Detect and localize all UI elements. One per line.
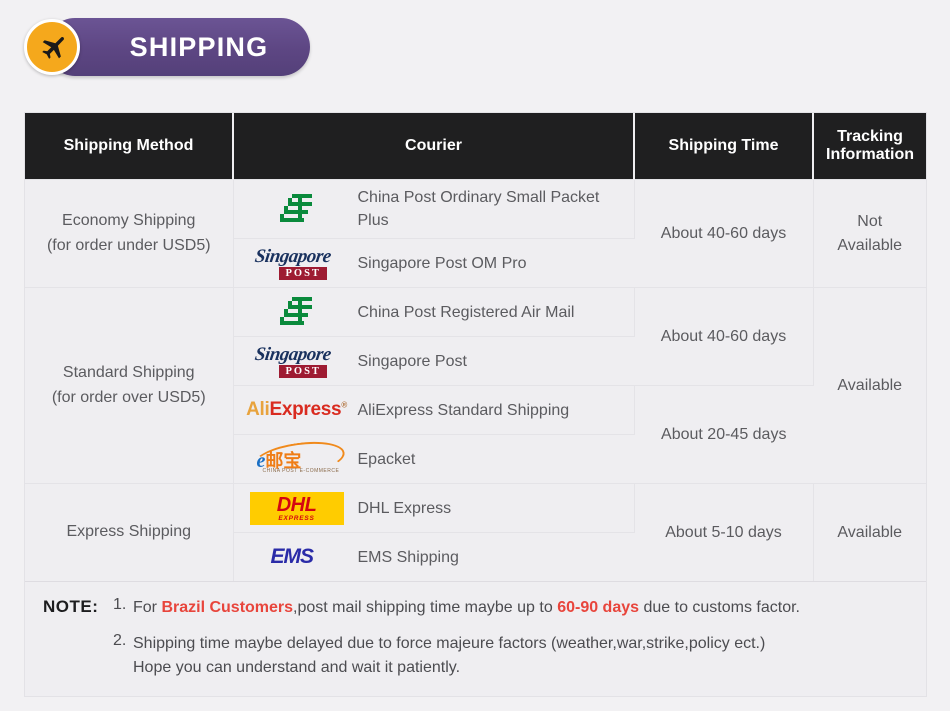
method-line2: (for order under USD5): [33, 234, 225, 259]
china-post-logo: [242, 192, 352, 226]
shipping-table-card: Shipping Method Courier Shipping Time Tr…: [24, 112, 927, 697]
method-cell-economy: Economy Shipping (for order under USD5): [25, 180, 233, 288]
courier-name: DHL Express: [352, 497, 452, 520]
courier-cell: Singapore POST Singapore Post: [233, 337, 634, 386]
note-item-1: NOTE: 1. For Brazil Customers,post mail …: [43, 596, 908, 620]
time-cell: About 20-45 days: [634, 386, 813, 484]
china-post-logo: [242, 295, 352, 329]
singapore-post-logo: Singapore POST: [242, 247, 352, 280]
dhl-subtext: EXPRESS: [252, 516, 342, 523]
note-label: NOTE:: [43, 596, 113, 617]
singapore-post-script: Singapore: [251, 247, 342, 266]
tracking-cell: Available: [813, 484, 926, 582]
singapore-post-box: POST: [279, 365, 327, 378]
aliexpress-express: Express: [269, 399, 341, 420]
header-courier: Courier: [233, 113, 634, 180]
courier-cell: AliExpress® AliExpress Standard Shipping: [233, 386, 634, 435]
courier-cell: e邮宝 CHINA POST E-COMMERCE Epacket: [233, 435, 634, 484]
courier-name: China Post Registered Air Mail: [352, 301, 575, 324]
courier-cell: China Post Ordinary Small Packet Plus: [233, 180, 634, 239]
dhl-wordmark: DHL: [252, 495, 342, 515]
courier-cell: China Post Registered Air Mail: [233, 288, 634, 337]
singapore-post-logo: Singapore POST: [242, 345, 352, 378]
header-tracking-line1: Tracking: [820, 128, 920, 146]
note-1-pre: For: [133, 599, 161, 616]
singapore-post-script: Singapore: [251, 345, 342, 364]
note-1-highlight-days: 60-90 days: [557, 599, 639, 616]
method-line2: (for order over USD5): [33, 386, 225, 411]
table-row: Express Shipping DHL EXPRESS DHL Express…: [25, 484, 926, 533]
table-row: Economy Shipping (for order under USD5): [25, 180, 926, 239]
tracking-cell: Available: [813, 288, 926, 484]
aliexpress-logo: AliExpress®: [242, 399, 352, 421]
aliexpress-ali: Ali: [246, 399, 269, 420]
courier-name: Epacket: [352, 448, 416, 471]
banner-pill: SHIPPING: [46, 18, 310, 76]
note-1-highlight-brazil: Brazil Customers: [161, 599, 293, 616]
courier-name: China Post Ordinary Small Packet Plus: [352, 186, 626, 232]
method-line1: Express Shipping: [33, 520, 225, 545]
courier-cell: EMS EMS Shipping: [233, 533, 634, 582]
note-2-text: Shipping time maybe delayed due to force…: [133, 632, 765, 680]
header-shipping-time: Shipping Time: [634, 113, 813, 180]
note-1-post: due to customs factor.: [639, 599, 800, 616]
epacket-logo: e邮宝 CHINA POST E-COMMERCE: [242, 441, 352, 477]
courier-cell: DHL EXPRESS DHL Express: [233, 484, 634, 533]
courier-name: EMS Shipping: [352, 546, 459, 569]
tracking-cell: Not Available: [813, 180, 926, 288]
note-2-line1: Shipping time maybe delayed due to force…: [133, 632, 765, 656]
courier-name: Singapore Post: [352, 350, 467, 373]
time-cell: About 5-10 days: [634, 484, 813, 582]
method-cell-standard: Standard Shipping (for order over USD5): [25, 288, 233, 484]
note-2-number: 2.: [113, 632, 133, 650]
dhl-logo: DHL EXPRESS: [242, 492, 352, 525]
time-cell: About 40-60 days: [634, 288, 813, 386]
table-header-row: Shipping Method Courier Shipping Time Tr…: [25, 113, 926, 180]
header-shipping-method: Shipping Method: [25, 113, 233, 180]
tracking-line1: Not: [822, 210, 919, 234]
epacket-subtext: CHINA POST E-COMMERCE: [263, 468, 340, 474]
note-1-text: For Brazil Customers,post mail shipping …: [133, 596, 800, 620]
courier-name: Singapore Post OM Pro: [352, 252, 527, 275]
airplane-badge: [24, 19, 80, 75]
ems-logo: EMS: [242, 542, 352, 572]
method-line1: Standard Shipping: [33, 361, 225, 386]
tracking-line2: Available: [822, 234, 919, 258]
table-row: Standard Shipping (for order over USD5): [25, 288, 926, 337]
note-item-2: 2. Shipping time maybe delayed due to fo…: [43, 632, 908, 680]
courier-cell: Singapore POST Singapore Post OM Pro: [233, 239, 634, 288]
method-line1: Economy Shipping: [33, 209, 225, 234]
time-cell: About 40-60 days: [634, 180, 813, 288]
header-tracking-information: Tracking Information: [813, 113, 926, 180]
aliexpress-tm: ®: [341, 401, 347, 410]
header-tracking-line2: Information: [820, 146, 920, 164]
banner-title: SHIPPING: [130, 32, 269, 63]
ems-wordmark: EMS: [271, 545, 314, 569]
note-1-number: 1.: [113, 596, 133, 614]
note-2-line2: Hope you can understand and wait it pati…: [133, 656, 765, 680]
notes-section: NOTE: 1. For Brazil Customers,post mail …: [25, 581, 926, 696]
note-1-mid: ,post mail shipping time maybe up to: [293, 599, 557, 616]
ems-speed-lines-right: [319, 548, 345, 566]
method-cell-express: Express Shipping: [25, 484, 233, 582]
singapore-post-box: POST: [279, 267, 327, 280]
courier-name: AliExpress Standard Shipping: [352, 399, 570, 422]
airplane-icon: [37, 32, 67, 62]
shipping-table: Shipping Method Courier Shipping Time Tr…: [25, 113, 926, 581]
